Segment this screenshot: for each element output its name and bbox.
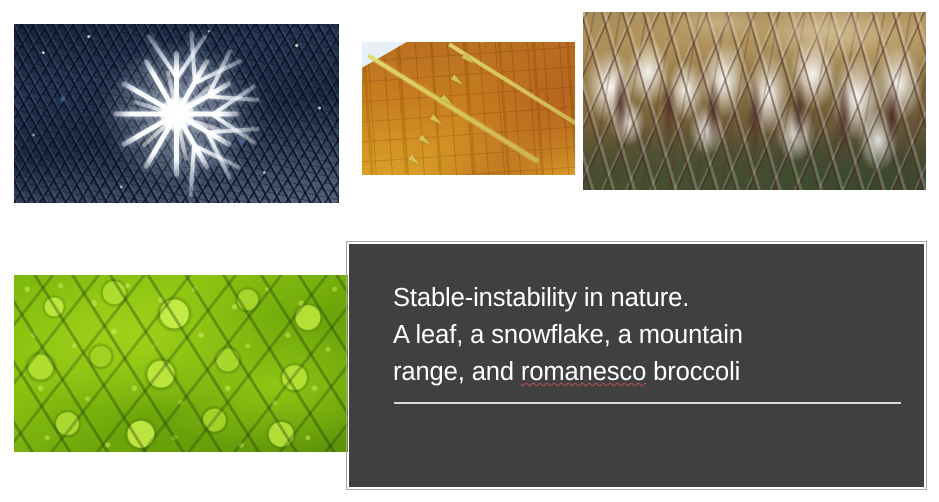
caption-line-2: A leaf, a snowflake, a mountain — [393, 321, 743, 349]
caption-line-1: Stable-instability in nature. — [393, 284, 689, 312]
romanesco-photo[interactable] — [14, 275, 348, 452]
misspelled-word[interactable]: romanesco — [521, 358, 646, 386]
caption-divider-rule — [394, 402, 901, 404]
mountain-range-photo[interactable] — [583, 12, 926, 190]
snowflake-photo[interactable] — [14, 24, 339, 203]
caption-line-3-prefix: range, and — [393, 358, 521, 386]
caption-text: Stable-instability in nature.A leaf, a s… — [393, 280, 893, 391]
snowflake-core — [160, 97, 194, 131]
caption-line-3-suffix: broccoli — [646, 358, 740, 386]
presentation-slide: Stable-instability in nature.A leaf, a s… — [0, 0, 939, 502]
caption-box[interactable]: Stable-instability in nature.A leaf, a s… — [348, 243, 925, 488]
leaf-photo[interactable] — [362, 42, 575, 175]
atmospheric-haze — [583, 12, 926, 190]
romanesco-shadow-texture — [14, 275, 348, 452]
